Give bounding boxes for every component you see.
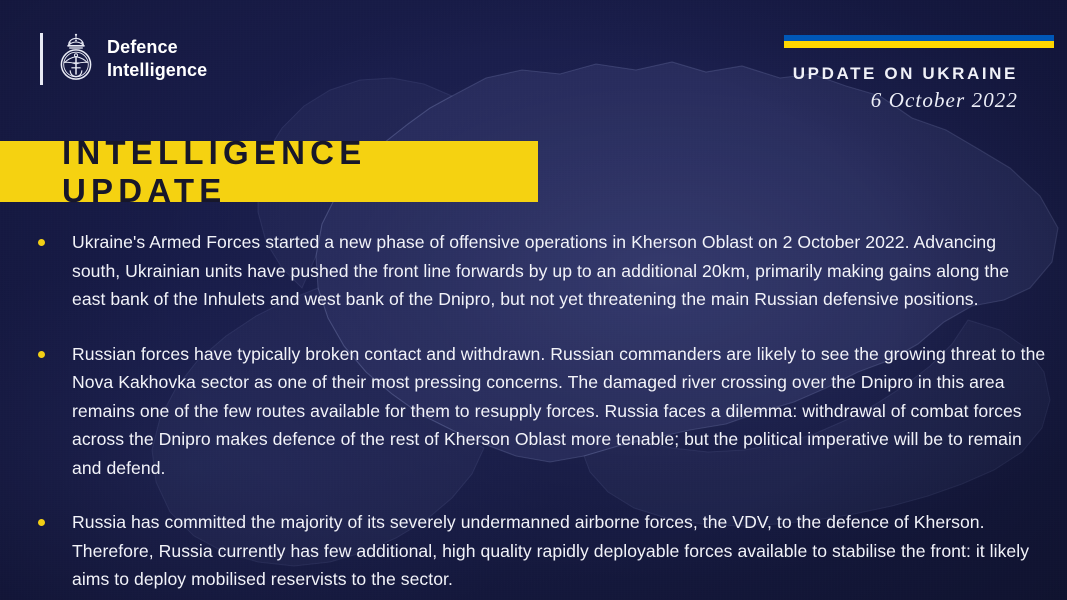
update-on-ukraine-label: UPDATE ON UKRAINE [458, 64, 1018, 84]
bullet-paragraph: Ukraine's Armed Forces started a new pha… [72, 228, 1046, 314]
brand-divider-rule [40, 33, 43, 85]
intelligence-update-poster: Defence Intelligence UPDATE ON UKRAINE 6… [0, 0, 1067, 600]
bullet-dot-icon [38, 351, 45, 358]
flag-stripe-yellow [784, 41, 1054, 48]
list-item: Russian forces have typically broken con… [38, 340, 1046, 483]
brand-wordmark: Defence Intelligence [107, 36, 207, 82]
ukraine-flag-bar-icon [784, 35, 1054, 48]
intelligence-update-banner: INTELLIGENCE UPDATE [0, 141, 538, 202]
list-item: Russia has committed the majority of its… [38, 508, 1046, 594]
bullet-list: Ukraine's Armed Forces started a new pha… [38, 228, 1046, 594]
royal-crest-icon [56, 33, 96, 86]
brand-lockup: Defence Intelligence [40, 30, 207, 88]
headline-title: INTELLIGENCE UPDATE [62, 134, 538, 210]
bullet-dot-icon [38, 519, 45, 526]
update-date: 6 October 2022 [458, 88, 1018, 113]
list-item: Ukraine's Armed Forces started a new pha… [38, 228, 1046, 314]
bullet-dot-icon [38, 239, 45, 246]
bullet-paragraph: Russian forces have typically broken con… [72, 340, 1046, 483]
bullet-paragraph: Russia has committed the majority of its… [72, 508, 1046, 594]
